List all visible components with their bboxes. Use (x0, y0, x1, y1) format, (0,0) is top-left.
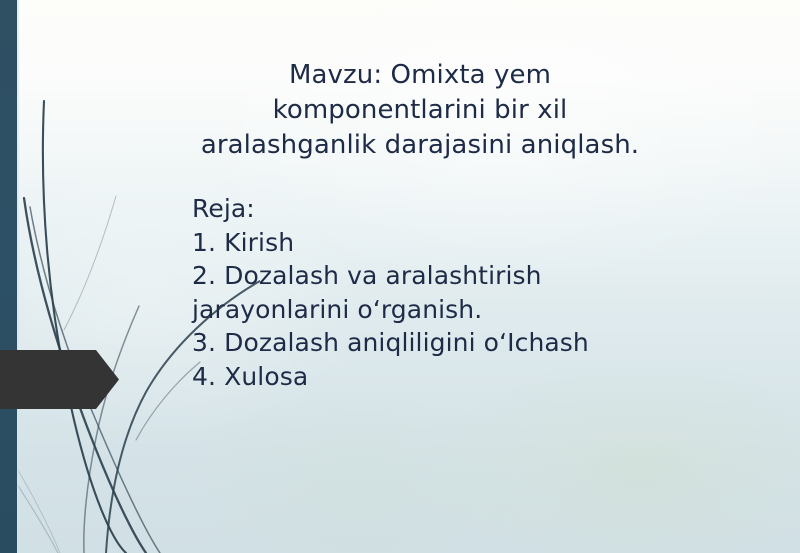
agenda-item-2: 2. Dozalash va aralashtirish (192, 259, 712, 293)
agenda-item-1: 1. Kirish (192, 226, 712, 260)
slide-body-agenda: Reja: 1. Kirish 2. Dozalash va aralashti… (192, 192, 712, 393)
left-accent-bar (0, 0, 17, 553)
agenda-item-3: 3. Dozalash aniqliligini o‘Ichash (192, 326, 712, 360)
slide-title: Mavzu: Omixta yem komponentlarini bir xi… (110, 58, 730, 163)
agenda-item-2-continued: jarayonlarini o‘rganish. (192, 293, 712, 327)
presentation-slide: Mavzu: Omixta yem komponentlarini bir xi… (0, 0, 800, 553)
title-line-3: aralashganlik darajasini aniqlash. (110, 128, 730, 163)
agenda-heading: Reja: (192, 192, 712, 226)
title-line-2: komponentlarini bir xil (110, 93, 730, 128)
left-accent-bar-highlight (17, 0, 20, 553)
title-line-1: Mavzu: Omixta yem (110, 58, 730, 93)
agenda-item-4: 4. Xulosa (192, 360, 712, 394)
